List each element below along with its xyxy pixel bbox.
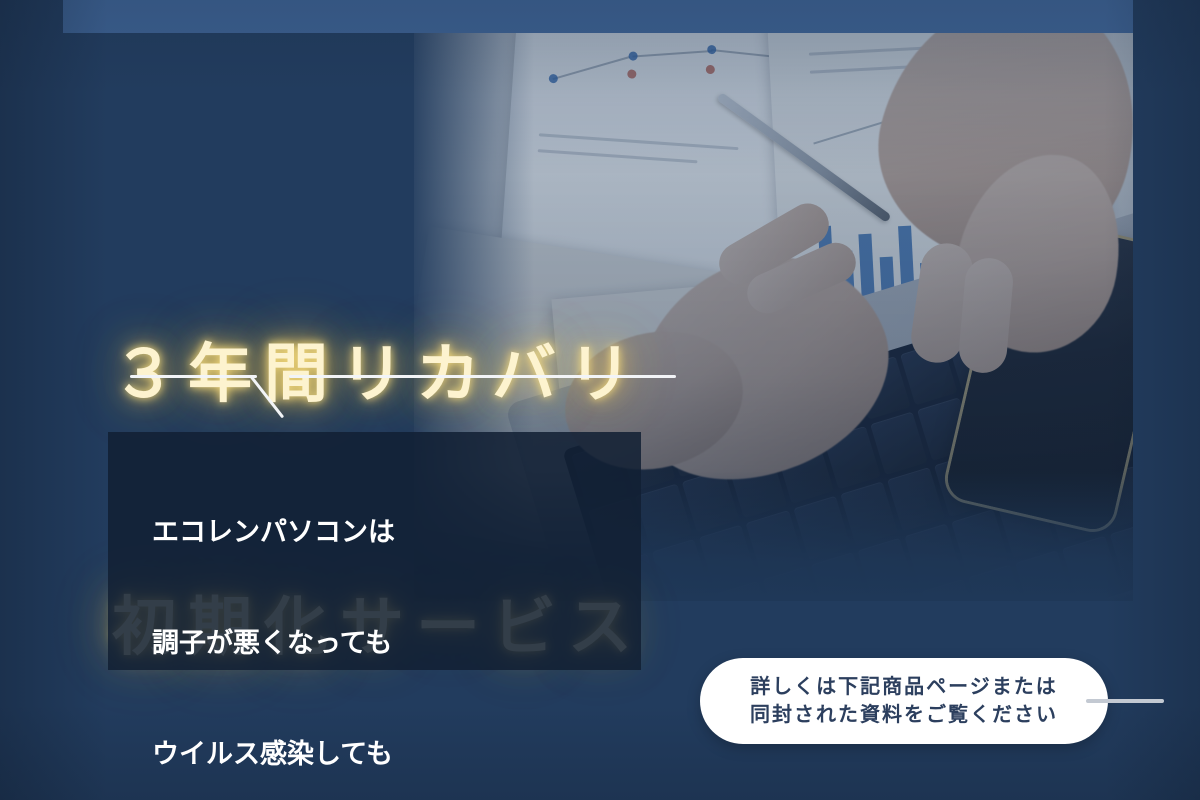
promotional-banner: ３年間リカバリ 初期化サービス エコレンパソコンは 調子が悪くなっても ウイルス… bbox=[0, 0, 1200, 800]
top-accent-band bbox=[63, 0, 1133, 33]
description-line-1: エコレンパソコンは bbox=[152, 514, 672, 551]
callout-line-2: 同封された資料をご覧ください bbox=[750, 701, 1058, 729]
description-line-3: ウイルス感染しても bbox=[152, 736, 672, 773]
callout-line-1: 詳しくは下記商品ページまたは bbox=[750, 673, 1058, 701]
divider-right-segment bbox=[289, 375, 676, 378]
callout-tail-line bbox=[1086, 699, 1164, 703]
divider-left-segment bbox=[130, 375, 257, 378]
callout-badge[interactable]: 詳しくは下記商品ページまたは 同封された資料をご覧ください bbox=[700, 658, 1108, 744]
description-line-2: 調子が悪くなっても bbox=[152, 625, 672, 662]
description-text: エコレンパソコンは 調子が悪くなっても ウイルス感染しても 設定を狂わせてしまっ… bbox=[152, 440, 672, 800]
